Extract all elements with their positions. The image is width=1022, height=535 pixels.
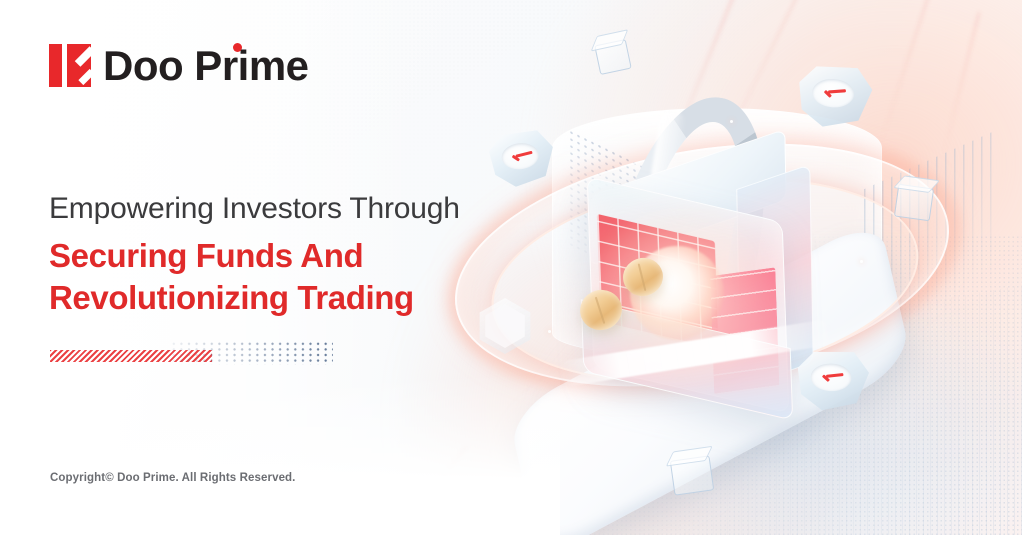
doo-prime-mark-icon [49,44,91,87]
logo-accent-dot-icon [233,43,242,52]
headline-line-3: Revolutionizing Trading [49,277,460,319]
mark-slash-upper [75,46,96,67]
doo-prime-banner: Doo Prime Empowering Investors Through S… [0,0,1022,535]
checkmark-icon [822,369,842,383]
glass-cube-bottom [670,455,714,495]
brand-logo[interactable]: Doo Prime [49,44,309,87]
mark-notch [62,44,67,87]
headline-line-2: Securing Funds And [49,235,460,277]
headline-line-1: Empowering Investors Through [49,192,460,226]
mark-slash-lower [78,69,94,85]
copyright-text: Copyright© Doo Prime. All Rights Reserve… [50,472,295,484]
checkmark-icon [823,84,844,99]
glass-cube-right [894,184,934,222]
shield-badge-top-right [796,64,874,130]
decorative-divider [50,347,332,367]
sparkle [860,260,863,263]
divider-dot-grid [170,341,333,365]
checkmark-icon [511,147,530,161]
shield-badge-left [487,129,556,189]
sparkle [548,330,551,333]
bottom-white-fade [0,375,560,535]
brand-name: Doo Prime [103,45,309,87]
shield-badge-bottom [796,350,869,412]
brand-name-text: Doo Prime [103,42,309,89]
headline-block: Empowering Investors Through Securing Fu… [49,192,460,318]
glass-cube-top [594,39,632,75]
sparkle [730,120,733,123]
